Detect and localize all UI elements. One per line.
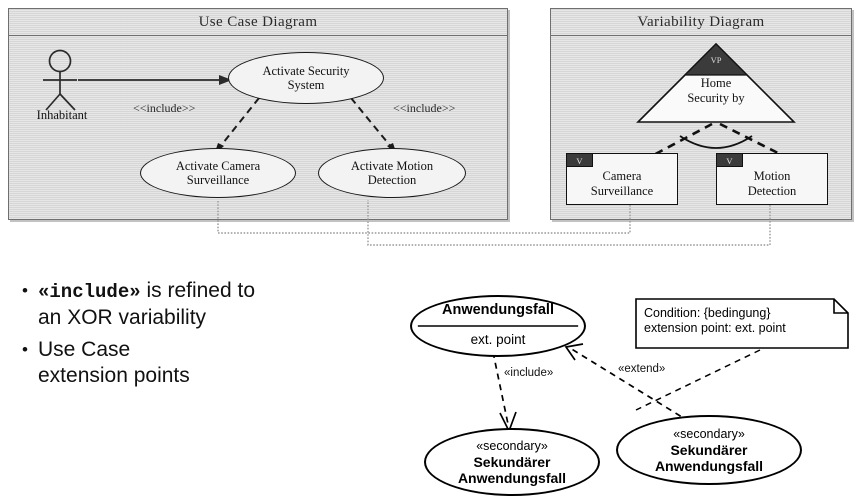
use-case-activate-motion-detection[interactable]: Activate MotionDetection bbox=[318, 148, 466, 198]
variant-label: MotionDetection bbox=[748, 160, 797, 198]
use-case-label: Activate CameraSurveillance bbox=[176, 159, 260, 187]
include-edge-secondary bbox=[493, 352, 516, 431]
extension-point-label: ext. point bbox=[412, 332, 584, 348]
list-item: • «include» is refined to an XOR variabi… bbox=[12, 278, 412, 331]
extend-edge-label: «extend» bbox=[617, 363, 666, 375]
note-anchor-line bbox=[636, 350, 760, 410]
use-case-anwendungsfall[interactable]: Anwendungsfall ext. point bbox=[410, 295, 586, 357]
variant-tag-camera: V bbox=[566, 153, 593, 167]
variant-camera-surveillance[interactable]: V CameraSurveillance bbox=[566, 153, 678, 205]
bullet-list: • «include» is refined to an XOR variabi… bbox=[12, 278, 412, 395]
use-case-secondary-include[interactable]: «secondary» Sekundärer Anwendungsfall bbox=[424, 428, 600, 496]
include-stereotype-token: «include» bbox=[38, 281, 141, 303]
list-item: • Use Case extension points bbox=[12, 337, 412, 389]
secondary-name-line1: Sekundärer bbox=[473, 454, 550, 470]
slide-canvas: Use Case Diagram Inhabitant Activate Se bbox=[0, 0, 866, 503]
bullet-marker: • bbox=[12, 278, 38, 304]
bullet-text-after: is refined to bbox=[141, 279, 255, 302]
include-edge-label: «include» bbox=[503, 367, 554, 379]
bullet-text-line2: extension points bbox=[38, 364, 190, 387]
variant-motion-detection[interactable]: V MotionDetection bbox=[716, 153, 828, 205]
actor-label: Inhabitant bbox=[12, 108, 112, 123]
secondary-stereotype: «secondary» bbox=[476, 439, 548, 454]
bullet-text-after: Use Case bbox=[38, 338, 130, 361]
secondary-name-line2: Anwendungsfall bbox=[655, 458, 763, 474]
variant-tag-motion: V bbox=[716, 153, 743, 167]
use-case-secondary-extend[interactable]: «secondary» Sekundärer Anwendungsfall bbox=[616, 415, 802, 485]
use-case-activate-camera-surveillance[interactable]: Activate CameraSurveillance bbox=[140, 148, 296, 198]
secondary-name-line2: Anwendungsfall bbox=[458, 470, 566, 486]
include-stereotype-label-right: <<include>> bbox=[393, 101, 455, 116]
bullet-marker: • bbox=[12, 337, 38, 363]
bullet-text-line2: an XOR variability bbox=[38, 306, 206, 329]
secondary-name-line1: Sekundärer bbox=[670, 442, 747, 458]
bullet-text: Use Case extension points bbox=[38, 337, 190, 389]
note-text: Condition: {bedingung}extension point: e… bbox=[644, 306, 844, 336]
note-line2: extension point: ext. point bbox=[644, 321, 786, 335]
variant-label: CameraSurveillance bbox=[591, 160, 653, 198]
note-line1: Condition: {bedingung} bbox=[644, 306, 771, 320]
bullet-text: «include» is refined to an XOR variabili… bbox=[38, 278, 255, 331]
use-case-name: Anwendungsfall bbox=[412, 302, 584, 319]
use-case-label: Activate MotionDetection bbox=[351, 159, 433, 187]
use-case-label: Activate SecuritySystem bbox=[262, 64, 349, 92]
secondary-stereotype: «secondary» bbox=[673, 427, 745, 442]
use-case-activate-security-system[interactable]: Activate SecuritySystem bbox=[228, 52, 384, 104]
include-stereotype-label-left: <<include>> bbox=[133, 101, 195, 116]
